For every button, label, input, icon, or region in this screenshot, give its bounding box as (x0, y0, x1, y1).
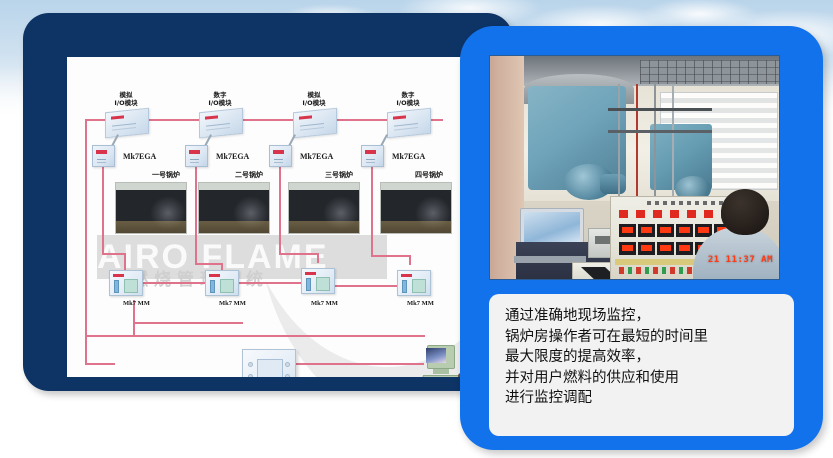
boiler-room-photo: 21 11:37 AM (489, 55, 780, 280)
boiler-photo-1 (115, 182, 187, 234)
pc-workstation-icon (422, 345, 464, 377)
boiler-photo-2 (198, 182, 270, 234)
ega-unit-icon-4 (361, 145, 384, 167)
mm-unit-label-4: Mk7 MM (407, 300, 434, 307)
mm-bargraph (306, 278, 311, 291)
slide-root: AIRO FLAME 燃烧管理系统 (0, 0, 833, 458)
dti-button (248, 362, 253, 367)
mm-unit-icon-4 (397, 270, 431, 296)
ega-unit-icon-1 (92, 145, 115, 167)
io-module-icon-2 (199, 108, 243, 139)
io-module-label-3: 模拟 I/O模块 (291, 91, 337, 107)
io-module-label-2-line2: I/O模块 (197, 99, 243, 107)
mm-display (316, 277, 330, 291)
mm-display (124, 279, 138, 293)
ega-unit-label-2: Mk7EGA (216, 152, 249, 161)
bus-left-drop-to-pc (85, 335, 87, 363)
photo-pipework (608, 84, 694, 196)
caption-line-5: 进行监控调配 (505, 388, 780, 409)
io-module-label-3-line1: 模拟 (291, 91, 337, 99)
photo-ceiling-grid (640, 60, 780, 84)
dti-button (248, 374, 253, 377)
mm-display (412, 279, 426, 293)
ega-unit-icon-2 (185, 145, 208, 167)
diagram-watermark-title: 燃烧管理系统 (131, 265, 269, 290)
mm-bargraph (210, 280, 215, 293)
ega-to-mm-elbow-1 (102, 253, 124, 255)
caption-line-3: 最大限度的提高效率， (505, 347, 780, 368)
mm-unit-icon-3 (301, 268, 335, 294)
io-module-icon-1 (105, 108, 149, 139)
ega-unit-icon-3 (269, 145, 292, 167)
boiler-label-2: 二号锅炉 (235, 170, 263, 180)
io-module-icon-3 (293, 108, 337, 139)
io-module-label-1-line2: I/O模块 (103, 99, 149, 107)
bus-wire-bottom (85, 335, 425, 337)
ega-to-mm-wire-4 (371, 167, 373, 255)
caption-line-2: 锅炉房操作者可在最短的时间里 (505, 327, 780, 348)
pc-keyboard (421, 375, 461, 377)
ega-to-mm-elbow-3 (279, 253, 317, 255)
bus-wire-left-vertical (85, 119, 87, 335)
pc-screen (426, 348, 446, 363)
mm-bargraph (402, 280, 407, 293)
io-module-label-2: 数字 I/O模块 (197, 91, 243, 107)
mm-unit-label-1: Mk7 MM (123, 300, 150, 307)
ega-unit-label-1: Mk7EGA (123, 152, 156, 161)
bus-to-pc-wire (85, 363, 115, 365)
caption-line-1: 通过准确地现场监控， (505, 306, 780, 327)
ega-to-mm-elbow-4 (371, 255, 409, 257)
mm-red-stripe (401, 274, 412, 277)
system-diagram-card: AIRO FLAME 燃烧管理系统 (67, 57, 467, 377)
io-module-label-1: 模拟 I/O模块 (103, 91, 149, 107)
mm-unit-icon-1 (109, 270, 143, 296)
mm-red-stripe (113, 274, 124, 277)
caption-line-4: 并对用户燃料的供应和使用 (505, 368, 780, 389)
photo-pipe-horizontal-2 (608, 130, 712, 133)
io-module-label-1-line1: 模拟 (103, 91, 149, 99)
ega-to-mm-drop-4 (409, 255, 411, 265)
io-module-label-4-line2: I/O模块 (385, 99, 431, 107)
dti-button (285, 374, 290, 377)
boiler-label-3: 三号锅炉 (325, 170, 353, 180)
photo-operator-shoulders (693, 227, 780, 280)
mm-unit-label-2: Mk7 MM (219, 300, 246, 307)
mm-display (220, 279, 234, 293)
ega-to-mm-drop-3 (317, 253, 319, 263)
ega-unit-label-4: Mk7EGA (392, 152, 425, 161)
ega-to-mm-wire-3 (279, 167, 281, 253)
dti-unit-icon (242, 349, 296, 377)
mm-unit-label-3: Mk7 MM (311, 300, 338, 307)
ega-to-mm-elbow-2 (195, 263, 221, 265)
boiler-label-1: 一号锅炉 (152, 170, 180, 180)
photo-timestamp: 21 11:37 AM (708, 255, 773, 265)
pc-monitor-stand (433, 369, 449, 374)
ega-unit-label-3: Mk7EGA (300, 152, 333, 161)
dti-to-pc-wire (296, 363, 424, 365)
caption-card: 通过准确地现场监控， 锅炉房操作者可在最短的时间里 最大限度的提高效率， 并对用… (489, 294, 794, 436)
boiler-photo-4 (380, 182, 452, 234)
io-module-icon-4 (387, 108, 431, 139)
io-module-label-4: 数字 I/O模块 (385, 91, 431, 107)
photo-pipe-horizontal-1 (608, 108, 712, 111)
dti-button (285, 362, 290, 367)
dti-display (257, 359, 283, 377)
ega-to-mm-wire-2 (195, 167, 197, 263)
ega-to-mm-wire-1 (102, 167, 104, 253)
io-module-label-4-line1: 数字 (385, 91, 431, 99)
ega-to-mm-drop-1 (124, 253, 126, 271)
io-module-label-3-line2: I/O模块 (291, 99, 337, 107)
left-navy-frame: AIRO FLAME 燃烧管理系统 (23, 13, 513, 391)
photo-operator-head (721, 189, 769, 235)
mm1-to-dti-wire (133, 322, 243, 324)
mm-bargraph (114, 280, 119, 293)
mm-red-stripe (209, 274, 220, 277)
mm-red-stripe (305, 272, 316, 275)
mm-unit-icon-2 (205, 270, 239, 296)
boiler-label-4: 四号锅炉 (415, 170, 443, 180)
io-module-label-2-line1: 数字 (197, 91, 243, 99)
boiler-photo-3 (288, 182, 360, 234)
